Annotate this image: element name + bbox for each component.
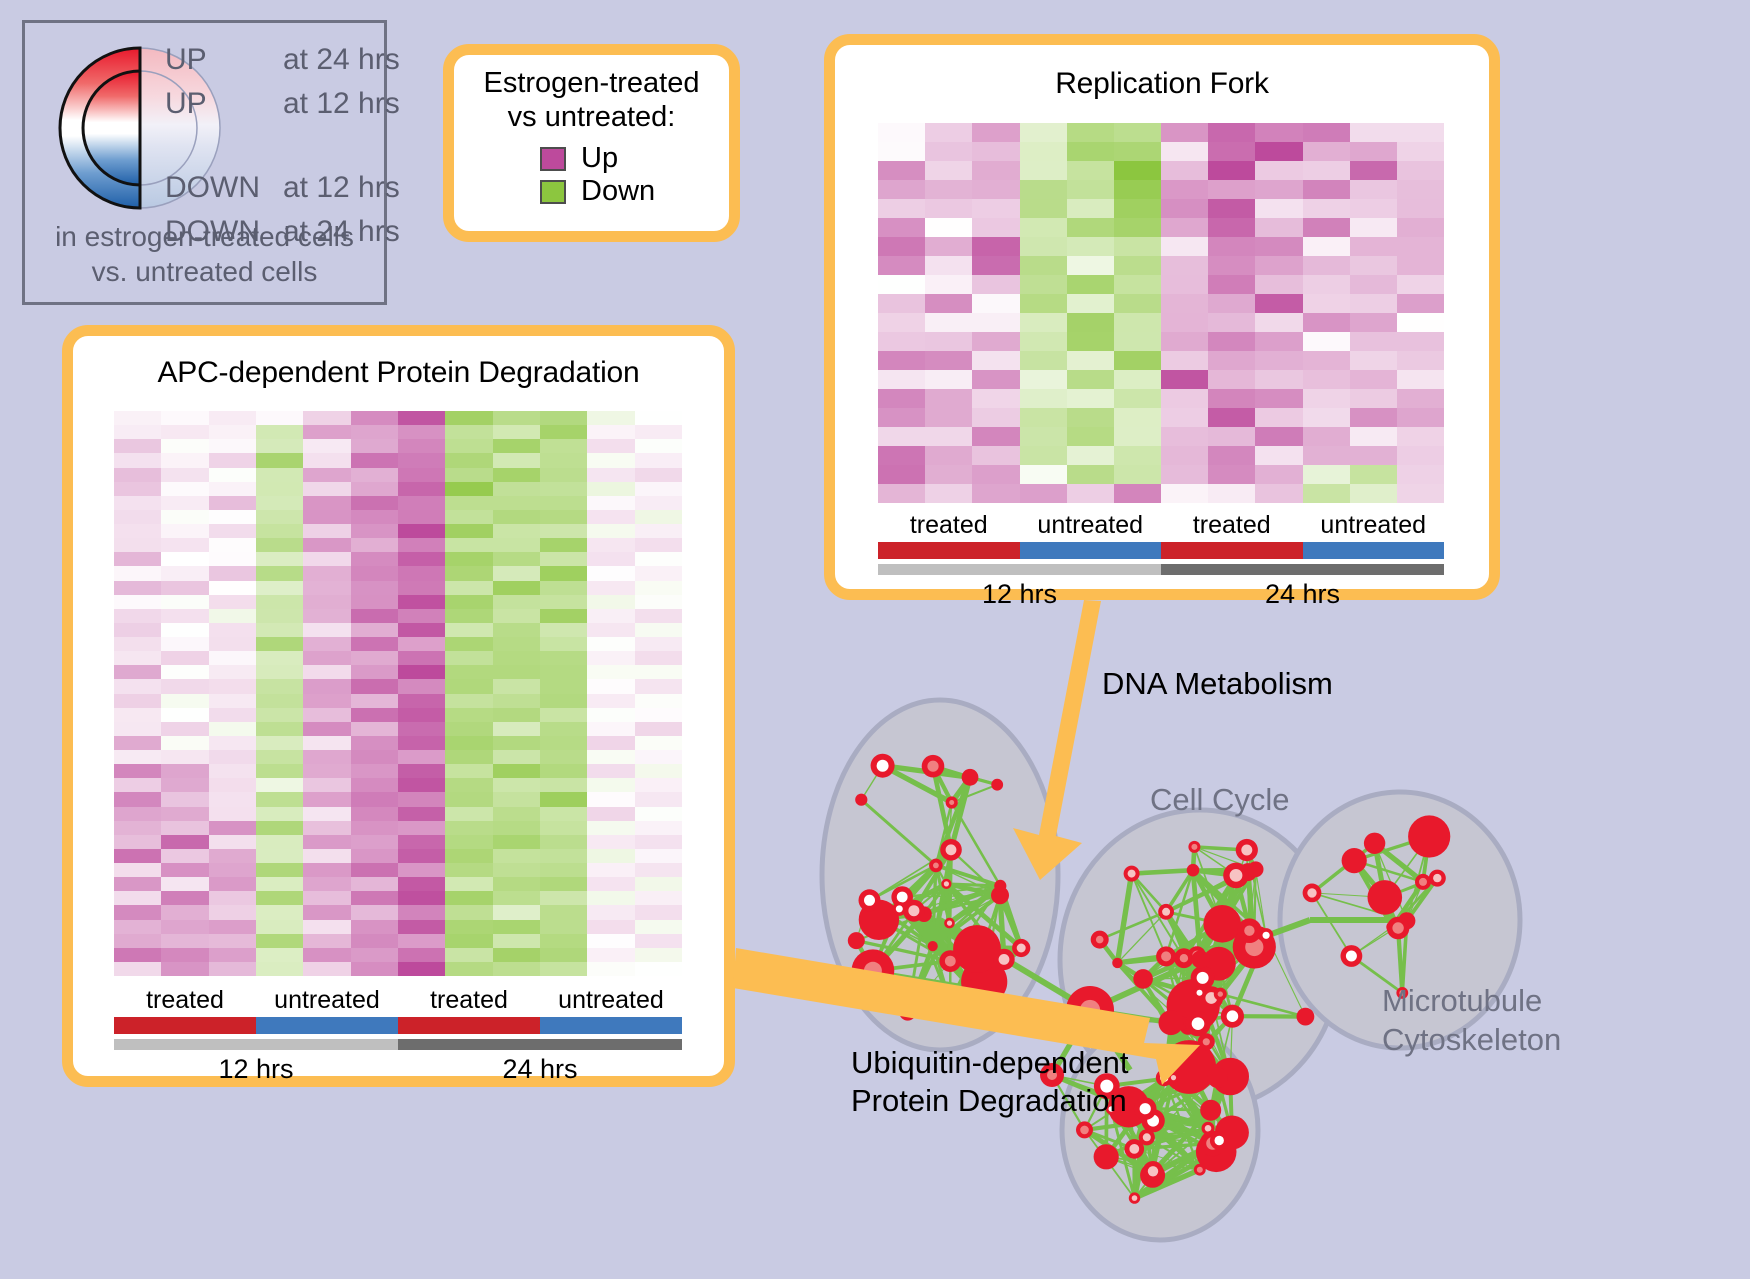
heatmap-cell: [635, 920, 682, 934]
network-node-core: [1227, 1010, 1239, 1022]
heatmap-cell: [351, 538, 398, 552]
heatmap-cell: [209, 566, 256, 580]
heatmap-cell: [445, 835, 492, 849]
heatmap-cell: [256, 905, 303, 919]
heatmap-cell: [256, 679, 303, 693]
heatmap-cell: [587, 764, 634, 778]
network-node-core: [1215, 1136, 1224, 1145]
color-key-time: at 12 hrs: [283, 87, 400, 121]
heatmap-cell: [114, 665, 161, 679]
heatmap-cell: [351, 905, 398, 919]
heatmap-cell: [303, 524, 350, 538]
heatmap-cell: [209, 538, 256, 552]
heatmap-cell: [256, 722, 303, 736]
network-node: [1364, 833, 1385, 854]
heatmap-cell: [635, 863, 682, 877]
heatmap-cell: [493, 934, 540, 948]
heatmap-cell: [878, 427, 925, 446]
time-label: 24 hrs: [398, 1054, 682, 1085]
heatmap-cell: [1208, 370, 1255, 389]
heatmap-cell: [445, 411, 492, 425]
heatmap-cell: [878, 446, 925, 465]
heatmap-cell: [1255, 237, 1302, 256]
heatmap-cell: [1303, 446, 1350, 465]
heatmap-cell: [925, 237, 972, 256]
heatmap-cell: [635, 538, 682, 552]
heatmap-cell: [972, 237, 1019, 256]
heatmap-cell: [209, 835, 256, 849]
heatmap-cell: [161, 496, 208, 510]
heatmap-cell: [114, 863, 161, 877]
heatmap-cell: [1350, 199, 1397, 218]
heatmap-cell: [878, 484, 925, 503]
heatmap-cell: [1020, 256, 1067, 275]
network-node-core: [1161, 951, 1171, 961]
time-label: 12 hrs: [878, 579, 1161, 610]
heatmap-cell: [351, 764, 398, 778]
treatment-label: untreated: [1303, 511, 1445, 540]
heatmap-cell: [209, 708, 256, 722]
time-color-bar: [114, 1039, 682, 1050]
heatmap-cell: [256, 538, 303, 552]
heatmap-cell: [1067, 408, 1114, 427]
heatmap-cell: [303, 411, 350, 425]
heatmap-cell: [161, 722, 208, 736]
heatmap-cell: [587, 807, 634, 821]
heatmap-cell: [1161, 313, 1208, 332]
heatmap-cell: [1255, 484, 1302, 503]
heatmap-cell: [398, 792, 445, 806]
heatmap-cell: [161, 863, 208, 877]
heatmap-cell: [587, 651, 634, 665]
heatmap-cell: [493, 679, 540, 693]
heatmap-cell: [303, 849, 350, 863]
heatmap-cell: [209, 962, 256, 976]
network-node-core: [908, 905, 919, 916]
treatment-bar-segment: [1020, 542, 1162, 559]
heatmap-cell: [351, 524, 398, 538]
heatmap-cell: [256, 863, 303, 877]
heatmap-cell: [1255, 370, 1302, 389]
legend-swatch-down: [540, 180, 566, 204]
heatmap-cell: [1208, 256, 1255, 275]
heatmap-cell: [161, 651, 208, 665]
heatmap-cell: [351, 736, 398, 750]
heatmap-cell: [972, 142, 1019, 161]
heatmap-cell: [540, 552, 587, 566]
heatmap-cell: [635, 835, 682, 849]
heatmap-cell: [635, 764, 682, 778]
heatmap-cell: [256, 552, 303, 566]
time-labels: 12 hrs 24 hrs: [878, 579, 1444, 610]
heatmap-cell: [972, 484, 1019, 503]
network-node-core: [933, 863, 939, 869]
heatmap-cell: [161, 552, 208, 566]
network-node: [899, 1004, 916, 1021]
heatmap-cell: [398, 623, 445, 637]
heatmap-cell: [351, 835, 398, 849]
heatmap-cell: [1397, 370, 1444, 389]
heatmap-cell: [1161, 180, 1208, 199]
heatmap-cell: [587, 962, 634, 976]
heatmap-cell: [398, 835, 445, 849]
heatmap-cell: [303, 566, 350, 580]
heatmap-cell: [540, 962, 587, 976]
heatmap-cell: [925, 351, 972, 370]
network-node: [994, 880, 1006, 892]
heatmap-cell: [878, 370, 925, 389]
heatmap-cell: [445, 863, 492, 877]
heatmap-cell: [635, 736, 682, 750]
heatmap-cell: [445, 566, 492, 580]
heatmap-cell: [925, 370, 972, 389]
heatmap-cell: [925, 199, 972, 218]
heatmap-cell: [493, 510, 540, 524]
heatmap-cell: [493, 566, 540, 580]
color-key-row: DOWN at 12 hrs: [165, 171, 400, 215]
heatmap-cell: [1255, 408, 1302, 427]
heatmap-cell: [1255, 313, 1302, 332]
heatmap-cell: [1255, 142, 1302, 161]
heatmap-cell: [114, 722, 161, 736]
heatmap-cell: [303, 934, 350, 948]
heatmap-cell: [114, 948, 161, 962]
heatmap-cell: [209, 496, 256, 510]
heatmap-cell: [540, 920, 587, 934]
heatmap-cell: [1303, 427, 1350, 446]
heatmap-cell: [1114, 370, 1161, 389]
heatmap-cell: [398, 849, 445, 863]
heatmap-cell: [540, 482, 587, 496]
heatmap-cell: [878, 256, 925, 275]
heatmap-cell: [587, 708, 634, 722]
heatmap-cell: [878, 180, 925, 199]
treatment-bar-segment: [256, 1017, 398, 1034]
heatmap-cell: [303, 609, 350, 623]
heatmap-cell: [303, 623, 350, 637]
heatmap-cell: [493, 764, 540, 778]
heatmap-cell: [1255, 199, 1302, 218]
heatmap-cell: [445, 849, 492, 863]
heatmap-cell: [351, 651, 398, 665]
heatmap-cell: [303, 694, 350, 708]
heatmap-cell: [256, 609, 303, 623]
heatmap-cell: [445, 538, 492, 552]
heatmap-cell: [161, 482, 208, 496]
network-node-core: [1307, 888, 1316, 897]
heatmap-cell: [445, 425, 492, 439]
heatmap-cell: [587, 877, 634, 891]
heatmap-cell: [256, 581, 303, 595]
heatmap-cell: [445, 468, 492, 482]
apc-degradation-title: APC-dependent Protein Degradation: [73, 356, 724, 390]
heatmap-cell: [1397, 313, 1444, 332]
heatmap-cell: [587, 538, 634, 552]
network-node-core: [1433, 874, 1441, 882]
heatmap-cell: [351, 623, 398, 637]
heatmap-cell: [1020, 446, 1067, 465]
heatmap-cell: [398, 637, 445, 651]
heatmap-cell: [1303, 351, 1350, 370]
heatmap-cell: [209, 778, 256, 792]
heatmap-cell: [351, 722, 398, 736]
heatmap-cell: [256, 665, 303, 679]
heatmap-cell: [1161, 389, 1208, 408]
heatmap-cell: [1020, 408, 1067, 427]
heatmap-cell: [1303, 256, 1350, 275]
heatmap-cell: [493, 694, 540, 708]
network-node-core: [1205, 1125, 1212, 1132]
heatmap-cell: [878, 199, 925, 218]
heatmap-cell: [1161, 199, 1208, 218]
heatmap-cell: [635, 566, 682, 580]
heatmap-cell: [1255, 465, 1302, 484]
heatmap-cell: [303, 679, 350, 693]
heatmap-cell: [1397, 332, 1444, 351]
heatmap-cell: [587, 566, 634, 580]
heatmap-cell: [1208, 123, 1255, 142]
heatmap-cell: [445, 750, 492, 764]
heatmap-cell: [398, 482, 445, 496]
heatmap-cell: [303, 962, 350, 976]
heatmap-cell: [256, 934, 303, 948]
heatmap-cell: [445, 595, 492, 609]
treatment-label: untreated: [540, 986, 682, 1015]
heatmap-cell: [1255, 180, 1302, 199]
network-node-core: [999, 954, 1010, 965]
heatmap-cell: [445, 962, 492, 976]
heatmap-cell: [972, 275, 1019, 294]
heatmap-cell: [1161, 427, 1208, 446]
heatmap-cell: [1067, 180, 1114, 199]
heatmap-cell: [1303, 313, 1350, 332]
heatmap-cell: [445, 891, 492, 905]
heatmap-cell: [635, 962, 682, 976]
network-node: [942, 994, 959, 1011]
heatmap-cell: [303, 496, 350, 510]
heatmap-cell: [1208, 465, 1255, 484]
heatmap-cell: [493, 609, 540, 623]
heatmap-cell: [114, 552, 161, 566]
heatmap-cell: [351, 609, 398, 623]
heatmap-cell: [1350, 294, 1397, 313]
heatmap-cell: [114, 835, 161, 849]
heatmap-cell: [1067, 465, 1114, 484]
heatmap-cell: [1350, 256, 1397, 275]
network-node-core: [1197, 972, 1209, 984]
heatmap-cell: [398, 679, 445, 693]
heatmap-cell: [635, 595, 682, 609]
heatmap-cell: [445, 821, 492, 835]
heatmap-cell: [209, 623, 256, 637]
heatmap-cell: [878, 332, 925, 351]
heatmap-cell: [1114, 446, 1161, 465]
heatmap-cell: [351, 821, 398, 835]
heatmap-cell: [1208, 427, 1255, 446]
heatmap-cell: [114, 736, 161, 750]
heatmap-cell: [1350, 446, 1397, 465]
heatmap-cell: [256, 807, 303, 821]
heatmap-cell: [256, 468, 303, 482]
heatmap-cell: [1067, 218, 1114, 237]
heatmap-cell: [1067, 446, 1114, 465]
heatmap-cell: [398, 595, 445, 609]
heatmap-cell: [1255, 256, 1302, 275]
heatmap-cell: [1350, 370, 1397, 389]
heatmap-cell: [587, 920, 634, 934]
heatmap-cell: [114, 694, 161, 708]
heatmap-cell: [1208, 180, 1255, 199]
network-node: [1368, 880, 1403, 915]
heatmap-cell: [1161, 408, 1208, 427]
heatmap-cell: [161, 948, 208, 962]
heatmap-cell: [445, 905, 492, 919]
heatmap-cell: [635, 905, 682, 919]
cluster-label-microtubule-cytoskeleton: Microtubule Cytoskeleton: [1382, 982, 1561, 1060]
heatmap-cell: [1161, 123, 1208, 142]
heatmap-cell: [493, 453, 540, 467]
heatmap-cell: [398, 425, 445, 439]
heatmap-cell: [114, 807, 161, 821]
heatmap-cell: [1303, 161, 1350, 180]
treatment-labels: treated untreated treated untreated: [878, 511, 1444, 540]
network-node-core: [944, 881, 949, 886]
heatmap-cell: [256, 453, 303, 467]
heatmap-cell: [1114, 237, 1161, 256]
heatmap-cell: [161, 581, 208, 595]
network-node: [1192, 950, 1210, 968]
heatmap-cell: [587, 453, 634, 467]
heatmap-cell: [587, 496, 634, 510]
heatmap-cell: [540, 750, 587, 764]
heatmap-cell: [351, 566, 398, 580]
network-node: [928, 941, 938, 951]
heatmap-cell: [161, 891, 208, 905]
heatmap-cell: [587, 934, 634, 948]
heatmap-cell: [161, 807, 208, 821]
heatmap-cell: [209, 750, 256, 764]
heatmap-cell: [635, 637, 682, 651]
heatmap-cell: [493, 821, 540, 835]
heatmap-cell: [587, 609, 634, 623]
heatmap-cell: [587, 581, 634, 595]
heatmap-cell: [256, 849, 303, 863]
heatmap-cell: [303, 792, 350, 806]
heatmap-cell: [925, 294, 972, 313]
heatmap-cell: [878, 142, 925, 161]
heatmap-cell: [925, 484, 972, 503]
legend-label-up: Up: [581, 142, 618, 175]
heatmap-cell: [256, 439, 303, 453]
heatmap-cell: [925, 218, 972, 237]
heatmap-cell: [1397, 465, 1444, 484]
heatmap-cell: [209, 792, 256, 806]
heatmap-cell: [1161, 351, 1208, 370]
network-node-core: [1419, 878, 1427, 886]
heatmap-cell: [398, 905, 445, 919]
heatmap-cell: [161, 694, 208, 708]
heatmap-cell: [303, 736, 350, 750]
cluster-label-line1: Ubiquitin-dependent: [851, 1044, 1129, 1082]
network-node-core: [1263, 932, 1270, 939]
heatmap-cell: [398, 934, 445, 948]
heatmap-cell: [635, 778, 682, 792]
heatmap-cell: [540, 468, 587, 482]
heatmap-cell: [540, 510, 587, 524]
heatmap-cell: [114, 637, 161, 651]
heatmap-cell: [635, 792, 682, 806]
heatmap-cell: [493, 411, 540, 425]
heatmap-cell: [209, 736, 256, 750]
heatmap-cell: [1067, 370, 1114, 389]
heatmap-cell: [635, 552, 682, 566]
heatmap-cell: [1067, 256, 1114, 275]
heatmap-cell: [161, 468, 208, 482]
heatmap-cell: [540, 877, 587, 891]
heatmap-cell: [351, 439, 398, 453]
heatmap-cell: [493, 623, 540, 637]
heatmap-cell: [351, 581, 398, 595]
heatmap-cell: [398, 510, 445, 524]
heatmap-cell: [351, 750, 398, 764]
heatmap-cell: [1350, 389, 1397, 408]
heatmap-cell: [540, 538, 587, 552]
heatmap-cell: [256, 891, 303, 905]
heatmap-cell: [1303, 180, 1350, 199]
heatmap-cell: [161, 821, 208, 835]
heatmap-cell: [398, 736, 445, 750]
heatmap-cell: [540, 849, 587, 863]
heatmap-cell: [1020, 123, 1067, 142]
heatmap-cell: [635, 468, 682, 482]
heatmap-cell: [587, 905, 634, 919]
heatmap-cell: [493, 920, 540, 934]
network-node: [848, 932, 865, 949]
heatmap-cell: [1397, 161, 1444, 180]
heatmap-cell: [493, 877, 540, 891]
treatment-label: treated: [1161, 511, 1303, 540]
network-node-core: [877, 760, 889, 772]
heatmap-cell: [972, 199, 1019, 218]
heatmap-cell: [635, 891, 682, 905]
heatmap-cell: [209, 849, 256, 863]
heatmap-cell: [114, 651, 161, 665]
heatmap-cell: [1067, 142, 1114, 161]
network-node-core: [927, 761, 938, 772]
heatmap-cell: [398, 468, 445, 482]
heatmap-cell: [635, 750, 682, 764]
heatmap-cell: [635, 807, 682, 821]
heatmap-cell: [635, 524, 682, 538]
heatmap-cell: [635, 581, 682, 595]
heatmap-cell: [114, 510, 161, 524]
treatment-bar-segment: [398, 1017, 540, 1034]
heatmap-cell: [445, 665, 492, 679]
heatmap-cell: [114, 411, 161, 425]
heatmap-cell: [256, 524, 303, 538]
heatmap-cell: [540, 736, 587, 750]
heatmap-cell: [540, 891, 587, 905]
heatmap-cell: [209, 651, 256, 665]
heatmap-cell: [1255, 351, 1302, 370]
heatmap-cell: [351, 425, 398, 439]
heatmap-cell: [1067, 275, 1114, 294]
heatmap-cell: [1397, 142, 1444, 161]
heatmap-cell: [398, 538, 445, 552]
treatment-bar-segment: [114, 1017, 256, 1034]
heatmap-cell: [161, 778, 208, 792]
network-node: [953, 925, 1001, 973]
